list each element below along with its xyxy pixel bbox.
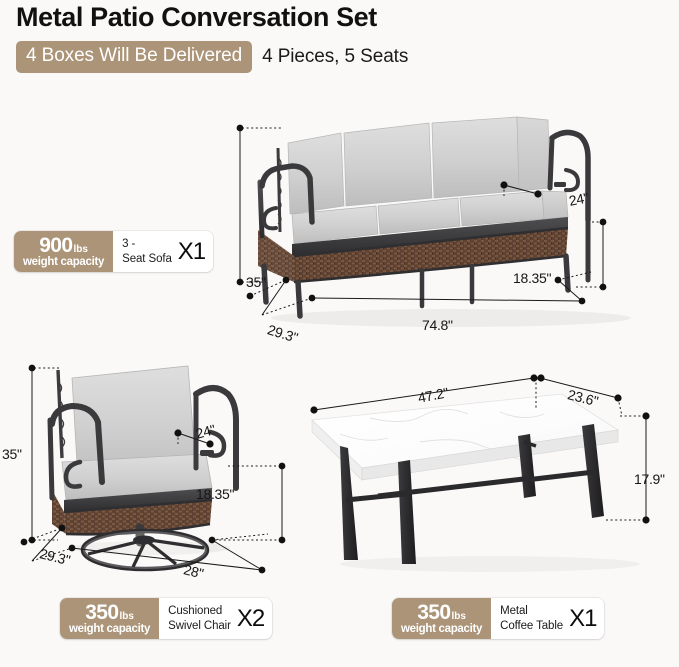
capacity-value-row: 350 lbs <box>417 602 466 623</box>
header: Metal Patio Conversation Set 4 Boxes Wil… <box>0 0 679 86</box>
capacity-unit: lbs <box>451 612 465 622</box>
table-illustration <box>300 368 679 583</box>
capacity-badge-table: 350 lbs weight capacity Metal Coffee Tab… <box>392 598 604 639</box>
capacity-label: weight capacity <box>23 257 104 269</box>
chair-diagram: 35" 18.35" 24" 29.3" 28" <box>0 358 300 593</box>
capacity-badge-sofa: 900 lbs weight capacity 3 - Seat Sofa X1 <box>14 231 213 272</box>
capacity-left-table: 350 lbs weight capacity <box>392 598 491 639</box>
capacity-unit: lbs <box>73 245 87 255</box>
capacity-label: weight capacity <box>69 624 150 636</box>
sofa-seat-height-label: 18.35" <box>513 270 551 286</box>
sofa-diagram: 35" 18.35" 24" 29.3" 74.8" <box>236 110 679 350</box>
capacity-value: 900 <box>39 235 72 256</box>
capacity-unit: lbs <box>119 612 133 622</box>
product-quantity: X1 <box>569 605 596 633</box>
chair-height-label: 35" <box>2 446 22 462</box>
capacity-value-row: 350 lbs <box>85 602 134 623</box>
capacity-value: 350 <box>417 602 450 623</box>
sofa-height-label: 35" <box>246 274 266 290</box>
sofa-illustration <box>236 110 679 350</box>
pieces-seats-text: 4 Pieces, 5 Seats <box>262 46 408 68</box>
product-quantity: X1 <box>178 238 205 266</box>
sofa-width-label: 74.8" <box>422 317 453 333</box>
capacity-right-chair: Cushioned Swivel Chair X2 <box>159 598 272 639</box>
boxes-delivered-badge: 4 Boxes Will Be Delivered <box>16 41 252 73</box>
capacity-value: 350 <box>85 602 118 623</box>
capacity-value-row: 900 lbs <box>39 235 88 256</box>
capacity-badge-chair: 350 lbs weight capacity Cushioned Swivel… <box>60 598 272 639</box>
chair-seat-height-label: 18.35" <box>196 486 234 502</box>
capacity-left-chair: 350 lbs weight capacity <box>60 598 159 639</box>
product-name: Metal Coffee Table <box>500 604 563 632</box>
page-title: Metal Patio Conversation Set <box>16 2 377 33</box>
product-quantity: X2 <box>237 605 264 633</box>
capacity-left-sofa: 900 lbs weight capacity <box>14 231 113 272</box>
subtitle-row: 4 Boxes Will Be Delivered 4 Pieces, 5 Se… <box>16 41 408 73</box>
product-name: 3 - Seat Sofa <box>122 237 172 265</box>
capacity-label: weight capacity <box>401 624 482 636</box>
capacity-right-sofa: 3 - Seat Sofa X1 <box>113 231 213 272</box>
table-height-label: 17.9" <box>634 471 665 487</box>
product-name: Cushioned Swivel Chair <box>168 604 231 632</box>
capacity-right-table: Metal Coffee Table X1 <box>491 598 604 639</box>
coffee-table-diagram: 47.2" 23.6" 17.9" <box>300 368 679 583</box>
